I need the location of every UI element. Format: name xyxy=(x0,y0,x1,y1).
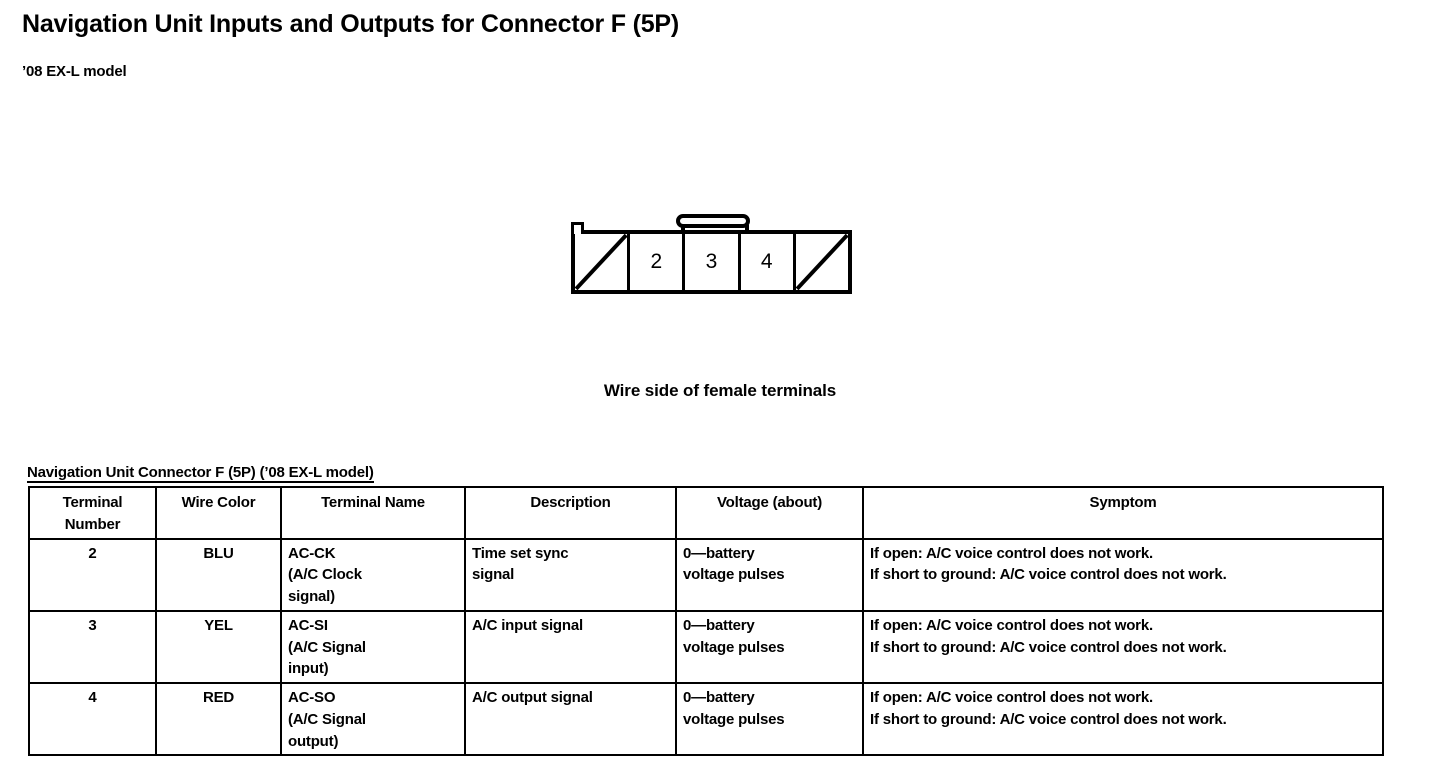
cell-voltage: 0—battery voltage pulses xyxy=(676,683,863,755)
terminal-name-line-2: (A/C Clock xyxy=(288,564,458,586)
symptom-line-open: If open: A/C voice control does not work… xyxy=(870,687,1376,709)
cell-voltage: 0—battery voltage pulses xyxy=(676,611,863,683)
voltage-line-1: 0—battery xyxy=(683,687,856,709)
cell-terminal-number: 4 xyxy=(29,683,156,755)
unused-terminal-slash-icon xyxy=(575,234,627,290)
diagram-caption: Wire side of female terminals xyxy=(0,381,1440,401)
model-subtitle: ’08 EX-L model xyxy=(22,63,126,80)
cell-terminal-name: AC-SI (A/C Signal input) xyxy=(281,611,465,683)
cell-wire-color: YEL xyxy=(156,611,281,683)
cell-wire-color: BLU xyxy=(156,539,281,611)
connector-cell-3-label: 3 xyxy=(706,250,718,274)
column-header-symptom: Symptom xyxy=(863,487,1383,539)
cell-terminal-name: AC-CK (A/C Clock signal) xyxy=(281,539,465,611)
cell-terminal-number: 3 xyxy=(29,611,156,683)
cell-description: A/C output signal xyxy=(465,683,676,755)
connector-keyway-notch-icon xyxy=(571,222,584,234)
column-header-wire-color: Wire Color xyxy=(156,487,281,539)
unused-terminal-slash-icon xyxy=(796,234,848,290)
table-row: 3 YEL AC-SI (A/C Signal input) A/C input… xyxy=(29,611,1383,683)
connector-cell-4: 4 xyxy=(741,234,796,290)
table-row: 4 RED AC-SO (A/C Signal output) A/C outp… xyxy=(29,683,1383,755)
column-header-terminal-name: Terminal Name xyxy=(281,487,465,539)
terminal-name-line-2: (A/C Signal xyxy=(288,637,458,659)
connector-body: 2 3 4 xyxy=(571,230,852,294)
pinout-table: Terminal Number Wire Color Terminal Name… xyxy=(28,486,1384,756)
connector-cell-3: 3 xyxy=(685,234,740,290)
cell-description: Time set sync signal xyxy=(465,539,676,611)
cell-symptom: If open: A/C voice control does not work… xyxy=(863,539,1383,611)
cell-wire-color: RED xyxy=(156,683,281,755)
voltage-line-1: 0—battery xyxy=(683,543,856,565)
column-header-voltage: Voltage (about) xyxy=(676,487,863,539)
connector-locking-tab-icon xyxy=(676,214,750,228)
terminal-name-line-3: signal) xyxy=(288,586,458,608)
table-caption: Navigation Unit Connector F (5P) (’08 EX… xyxy=(27,464,374,483)
terminal-name-line-2: (A/C Signal xyxy=(288,709,458,731)
description-line-1: A/C output signal xyxy=(472,687,669,709)
cell-terminal-name: AC-SO (A/C Signal output) xyxy=(281,683,465,755)
terminal-name-line-3: output) xyxy=(288,731,458,753)
page-title: Navigation Unit Inputs and Outputs for C… xyxy=(22,10,679,39)
voltage-line-2: voltage pulses xyxy=(683,709,856,731)
table-header-row: Terminal Number Wire Color Terminal Name… xyxy=(29,487,1383,539)
table-row: 2 BLU AC-CK (A/C Clock signal) Time set … xyxy=(29,539,1383,611)
terminal-name-line-1: AC-CK xyxy=(288,543,458,565)
column-header-description: Description xyxy=(465,487,676,539)
cell-symptom: If open: A/C voice control does not work… xyxy=(863,683,1383,755)
connector-cell-2-label: 2 xyxy=(650,250,662,274)
terminal-name-line-3: input) xyxy=(288,658,458,680)
terminal-name-line-1: AC-SO xyxy=(288,687,458,709)
terminal-name-line-1: AC-SI xyxy=(288,615,458,637)
connector-cell-2: 2 xyxy=(630,234,685,290)
symptom-line-short: If short to ground: A/C voice control do… xyxy=(870,637,1376,659)
connector-cell-1-unused xyxy=(575,234,630,290)
cell-symptom: If open: A/C voice control does not work… xyxy=(863,611,1383,683)
description-line-1: Time set sync xyxy=(472,543,669,565)
voltage-line-2: voltage pulses xyxy=(683,637,856,659)
connector-cell-4-label: 4 xyxy=(761,250,773,274)
description-line-2: signal xyxy=(472,564,669,586)
voltage-line-2: voltage pulses xyxy=(683,564,856,586)
symptom-line-short: If short to ground: A/C voice control do… xyxy=(870,564,1376,586)
cell-voltage: 0—battery voltage pulses xyxy=(676,539,863,611)
symptom-line-short: If short to ground: A/C voice control do… xyxy=(870,709,1376,731)
column-header-terminal-number: Terminal Number xyxy=(29,487,156,539)
symptom-line-open: If open: A/C voice control does not work… xyxy=(870,543,1376,565)
connector-diagram: 2 3 4 xyxy=(560,205,870,305)
symptom-line-open: If open: A/C voice control does not work… xyxy=(870,615,1376,637)
cell-terminal-number: 2 xyxy=(29,539,156,611)
voltage-line-1: 0—battery xyxy=(683,615,856,637)
connector-cell-5-unused xyxy=(796,234,848,290)
cell-description: A/C input signal xyxy=(465,611,676,683)
description-line-1: A/C input signal xyxy=(472,615,669,637)
